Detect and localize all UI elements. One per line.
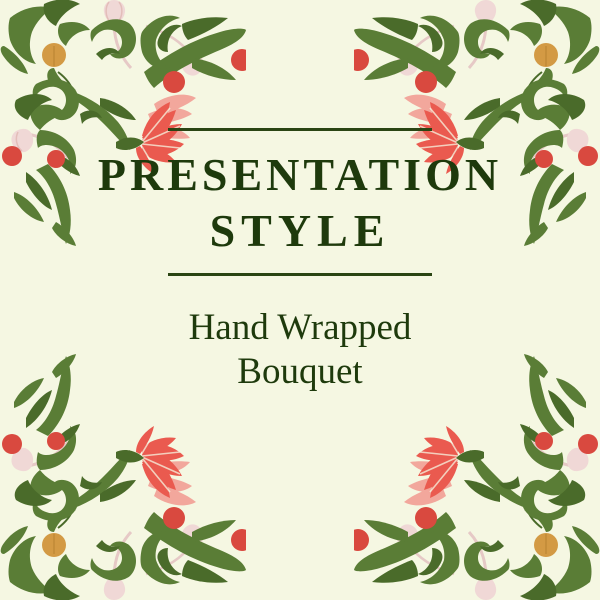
divider-top	[168, 128, 432, 131]
subtitle-line-1: Hand Wrapped	[0, 306, 600, 350]
leaf-scroll	[182, 17, 228, 40]
leaf-scroll	[144, 29, 246, 88]
orange-berry	[42, 43, 66, 67]
leaf-scroll	[192, 58, 236, 80]
leaf-scroll	[58, 22, 90, 46]
pink-bud	[181, 52, 203, 76]
leaf-scroll	[33, 79, 79, 120]
red-berry	[163, 71, 185, 93]
leaf-scroll	[157, 25, 182, 52]
leaf-scroll	[80, 111, 102, 124]
pink-bud	[104, 0, 125, 24]
subtitle-line-2: Bouquet	[0, 350, 600, 394]
leaf-scroll	[15, 94, 52, 120]
page-title-line-2: STYLE	[0, 203, 600, 259]
leaf-scroll	[91, 19, 137, 58]
leaf-scroll	[44, 0, 80, 26]
title-block: PRESENTATION STYLE	[0, 128, 600, 276]
leaf-scroll	[100, 98, 136, 120]
red-berry	[231, 49, 246, 71]
subtitle-block: Hand Wrapped Bouquet	[0, 306, 600, 394]
leaf-scroll	[1, 46, 28, 74]
divider-bottom	[168, 273, 432, 276]
leaf-scroll	[58, 72, 74, 94]
leaf-scroll	[9, 6, 53, 64]
page-title-line-1: PRESENTATION	[0, 147, 600, 203]
leaf-scroll	[47, 68, 76, 91]
leaf-scroll	[141, 16, 181, 69]
leaf-scroll	[30, 105, 66, 130]
leaf-scroll	[96, 48, 120, 60]
poster-canvas: PRESENTATION STYLE Hand Wrapped Bouquet	[0, 0, 600, 600]
